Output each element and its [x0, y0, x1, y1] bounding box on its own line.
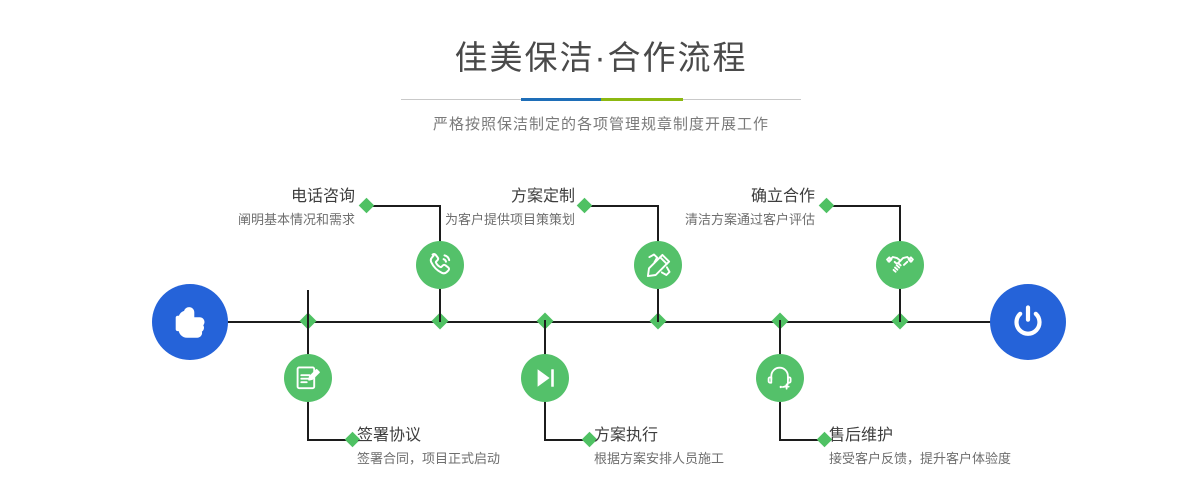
cooperation-process-infographic: 佳美保洁·合作流程 严格按照保洁制定的各项管理规章制度开展工作 [0, 0, 1202, 502]
step-label-3: 方案定制 为客户提供项目策策划 [360, 188, 575, 229]
step-label-6: 售后维护 接受客户反馈，提升客户体验度 [829, 427, 1079, 468]
handshake-icon [885, 250, 915, 280]
step-label-2: 签署协议 签署合同，项目正式启动 [357, 427, 587, 468]
timeline-end-node [990, 284, 1066, 360]
connector-horizontal-6 [826, 205, 901, 207]
page-title: 佳美保洁·合作流程 [0, 0, 1202, 78]
step-label-1: 电话咨询 阐明基本情况和需求 [145, 188, 355, 229]
step-icon-document-edit [284, 354, 332, 402]
step-title: 确立合作 [600, 188, 815, 206]
phone-call-icon [425, 250, 455, 280]
step-title: 售后维护 [829, 427, 1079, 445]
label-marker-plan [577, 198, 593, 214]
step-desc: 根据方案安排人员施工 [594, 450, 824, 468]
step-title: 方案执行 [594, 427, 824, 445]
step-desc: 签署合同，项目正式启动 [357, 450, 587, 468]
label-marker-handshake [819, 198, 835, 214]
step-desc: 阐明基本情况和需求 [145, 211, 355, 229]
pointing-hand-icon [169, 301, 211, 343]
divider-segment-green [601, 98, 683, 101]
step-desc: 接受客户反馈，提升客户体验度 [829, 450, 1079, 468]
title-divider [401, 98, 801, 101]
connector-vertical-1 [307, 290, 309, 322]
power-icon [1007, 301, 1049, 343]
divider-segment-blue [521, 98, 601, 101]
step-icon-customer-service [756, 354, 804, 402]
customer-service-icon [766, 364, 794, 392]
document-edit-icon [294, 364, 322, 392]
header: 佳美保洁·合作流程 严格按照保洁制定的各项管理规章制度开展工作 [0, 0, 1202, 134]
step-title: 签署协议 [357, 427, 587, 445]
step-title: 方案定制 [360, 188, 575, 206]
step-desc: 为客户提供项目策策划 [360, 211, 575, 229]
pencil-ruler-icon [644, 251, 673, 280]
play-skip-icon [532, 365, 558, 391]
page-subtitle: 严格按照保洁制定的各项管理规章制度开展工作 [0, 113, 1202, 134]
step-icon-handshake [876, 241, 924, 289]
step-desc: 清洁方案通过客户评估 [600, 211, 815, 229]
step-label-5: 确立合作 清洁方案通过客户评估 [600, 188, 815, 229]
step-icon-pencil-ruler [634, 241, 682, 289]
timeline-start-node [152, 284, 228, 360]
step-label-4: 方案执行 根据方案安排人员施工 [594, 427, 824, 468]
step-icon-phone-call [416, 241, 464, 289]
step-icon-play-skip [521, 354, 569, 402]
step-title: 电话咨询 [145, 188, 355, 206]
